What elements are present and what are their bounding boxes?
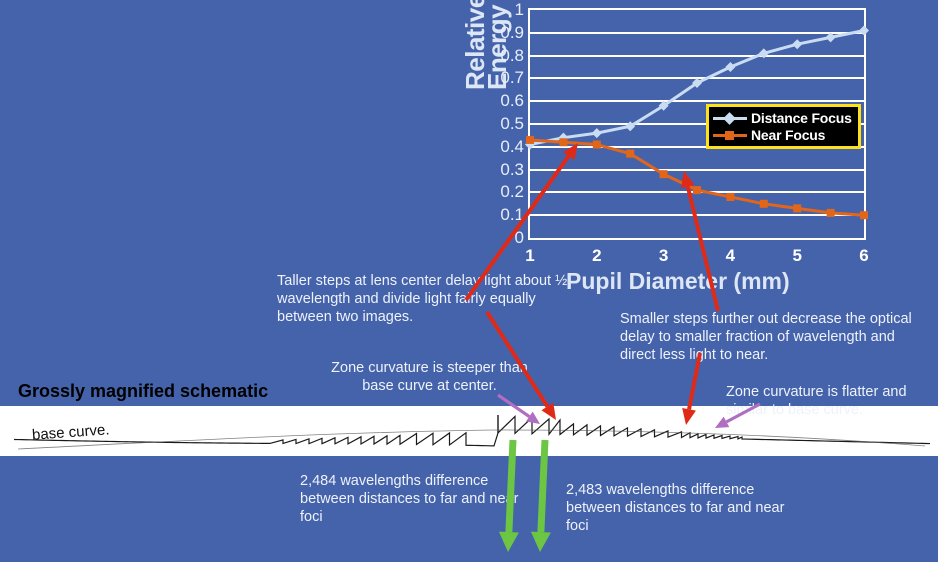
y-tick-label: 0.4 (500, 138, 524, 155)
data-point (559, 138, 567, 146)
annotation-smaller-steps: Smaller steps further out decrease the o… (620, 310, 920, 364)
chart-legend: Distance FocusNear Focus (706, 104, 861, 149)
data-point (759, 48, 769, 58)
lens-profile-path (14, 416, 930, 445)
x-tick-label: 1 (525, 246, 534, 266)
data-point (827, 209, 835, 217)
annotation-zone-flatter: Zone curvature is flatter and similar to… (726, 383, 936, 419)
y-tick-label: 0 (515, 229, 524, 246)
x-tick-label: 2 (592, 246, 601, 266)
series-line (530, 140, 864, 215)
x-tick-label: 6 (859, 246, 868, 266)
legend-square-icon (713, 129, 747, 141)
data-point (793, 204, 801, 212)
x-tick-label: 5 (792, 246, 801, 266)
legend-entry: Near Focus (713, 126, 852, 143)
y-tick-label: 0.2 (500, 183, 524, 200)
annotation-taller-steps: Taller steps at lens center delay light … (277, 272, 577, 326)
data-point (526, 136, 534, 144)
data-point (860, 211, 868, 219)
y-tick-label: 1 (515, 1, 524, 18)
data-point (626, 150, 634, 158)
legend-label: Near Focus (751, 127, 825, 143)
x-tick-label: 4 (726, 246, 735, 266)
legend-entry: Distance Focus (713, 109, 852, 126)
y-tick-label: 0.9 (500, 24, 524, 41)
data-point (760, 200, 768, 208)
data-point (593, 141, 601, 149)
data-point (826, 32, 836, 42)
annotation-wavelengths-right: 2,483 wavelengths difference between dis… (566, 481, 791, 535)
data-point (592, 128, 602, 138)
chart-x-axis-ticks: 123456 (528, 244, 866, 268)
chart-y-axis-ticks: 00.10.20.30.40.50.60.70.80.91 (466, 0, 526, 248)
data-point (792, 39, 802, 49)
data-point (859, 26, 869, 36)
data-point (660, 170, 668, 178)
y-tick-label: 0.1 (500, 206, 524, 223)
legend-label: Distance Focus (751, 110, 852, 126)
x-tick-label: 3 (659, 246, 668, 266)
chart-x-axis-label: Pupil Diameter (mm) (566, 268, 790, 295)
y-tick-label: 0.7 (500, 69, 524, 86)
data-point (726, 193, 734, 201)
data-point (693, 186, 701, 194)
y-tick-label: 0.5 (500, 115, 524, 132)
data-point (725, 62, 735, 72)
annotation-wavelengths-left: 2,484 wavelengths difference between dis… (300, 472, 520, 526)
green-arrow-right (531, 440, 551, 552)
schematic-title: Grossly magnified schematic (18, 381, 268, 402)
legend-diamond-icon (713, 112, 747, 124)
y-tick-label: 0.3 (500, 161, 524, 178)
relative-energy-chart: Relative Energy 00.10.20.30.40.50.60.70.… (466, 0, 938, 300)
base-curve-reference-line (18, 430, 925, 449)
y-tick-label: 0.8 (500, 47, 524, 64)
y-tick-label: 0.6 (500, 92, 524, 109)
annotation-zone-steeper: Zone curvature is steeper than base curv… (322, 359, 537, 395)
